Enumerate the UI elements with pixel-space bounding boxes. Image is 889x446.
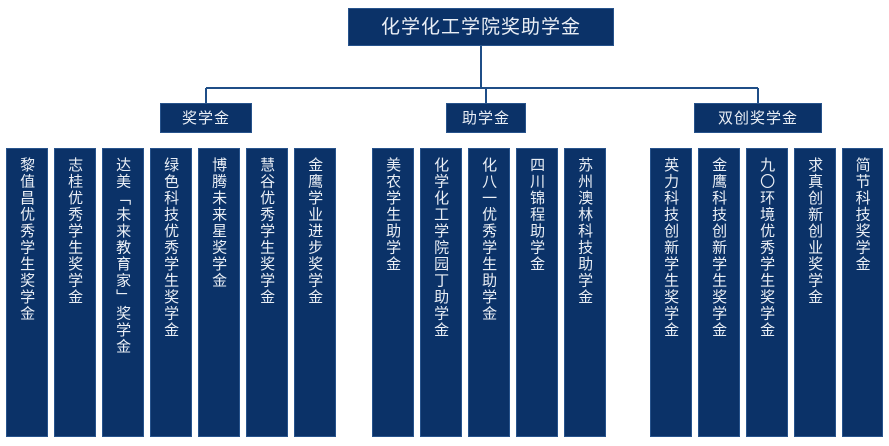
leaf-node-label: 黎值昌优秀学生奖学金 — [19, 157, 35, 322]
leaf-node[interactable]: 慧谷优秀学生奖学金 — [246, 148, 288, 437]
leaf-node-label: 志桂优秀学生奖学金 — [67, 157, 83, 306]
leaf-node-label: 化学化工学院园丁助学金 — [433, 157, 449, 339]
leaf-node-label: 英力科技创新学生奖学金 — [663, 157, 679, 339]
category-node-label: 助学金 — [462, 111, 510, 126]
leaf-node[interactable]: 黎值昌优秀学生奖学金 — [6, 148, 48, 437]
leaf-node-label: 金鹰科技创新学生奖学金 — [711, 157, 727, 339]
leaf-node[interactable]: 四川锦程助学金 — [516, 148, 558, 437]
leaf-node[interactable]: 九〇环境优秀学生奖学金 — [746, 148, 788, 437]
category-node-label: 双创奖学金 — [718, 111, 798, 126]
leaf-node-label: 苏州澳林科技助学金 — [577, 157, 593, 306]
leaf-node-label: 求真创新创业奖学金 — [807, 157, 823, 306]
leaf-node[interactable]: 求真创新创业奖学金 — [794, 148, 836, 437]
leaf-node-label: 金鹰学业进步奖学金 — [307, 157, 323, 306]
org-chart: 化学化工学院奖助学金 奖学金 助学金 双创奖学金 黎值昌优秀学生奖学金 志桂优秀… — [0, 0, 889, 446]
leaf-node-label: 化八一优秀学生助学金 — [481, 157, 497, 322]
leaf-node[interactable]: 化学化工学院园丁助学金 — [420, 148, 462, 437]
category-node-innovation-scholarship[interactable]: 双创奖学金 — [694, 103, 822, 133]
leaf-node-label: 绿色科技优秀学生奖学金 — [163, 157, 179, 339]
leaf-node[interactable]: 博腾未来星奖学金 — [198, 148, 240, 437]
leaf-node[interactable]: 简节科技奖学金 — [842, 148, 883, 437]
leaf-node[interactable]: 金鹰学业进步奖学金 — [294, 148, 336, 437]
leaf-node-label: 达美「未来教育家」奖学金 — [115, 157, 131, 355]
category-node-label: 奖学金 — [182, 111, 230, 126]
leaf-node[interactable]: 苏州澳林科技助学金 — [564, 148, 606, 437]
leaf-node[interactable]: 达美「未来教育家」奖学金 — [102, 148, 144, 437]
leaf-node-label: 慧谷优秀学生奖学金 — [259, 157, 275, 306]
category-node-grant[interactable]: 助学金 — [446, 103, 526, 133]
leaf-node-label: 美农学生助学金 — [385, 157, 401, 273]
leaf-node-label: 九〇环境优秀学生奖学金 — [759, 157, 775, 339]
leaf-node-label: 简节科技奖学金 — [854, 157, 870, 273]
root-node-label: 化学化工学院奖助学金 — [381, 18, 581, 37]
root-node[interactable]: 化学化工学院奖助学金 — [348, 8, 614, 46]
category-node-scholarship[interactable]: 奖学金 — [160, 103, 252, 133]
leaf-node[interactable]: 美农学生助学金 — [372, 148, 414, 437]
leaf-node[interactable]: 绿色科技优秀学生奖学金 — [150, 148, 192, 437]
leaf-node[interactable]: 化八一优秀学生助学金 — [468, 148, 510, 437]
leaf-node[interactable]: 英力科技创新学生奖学金 — [650, 148, 692, 437]
leaf-node[interactable]: 金鹰科技创新学生奖学金 — [698, 148, 740, 437]
leaf-node[interactable]: 志桂优秀学生奖学金 — [54, 148, 96, 437]
leaf-node-label: 博腾未来星奖学金 — [211, 157, 227, 289]
leaf-node-label: 四川锦程助学金 — [529, 157, 545, 273]
